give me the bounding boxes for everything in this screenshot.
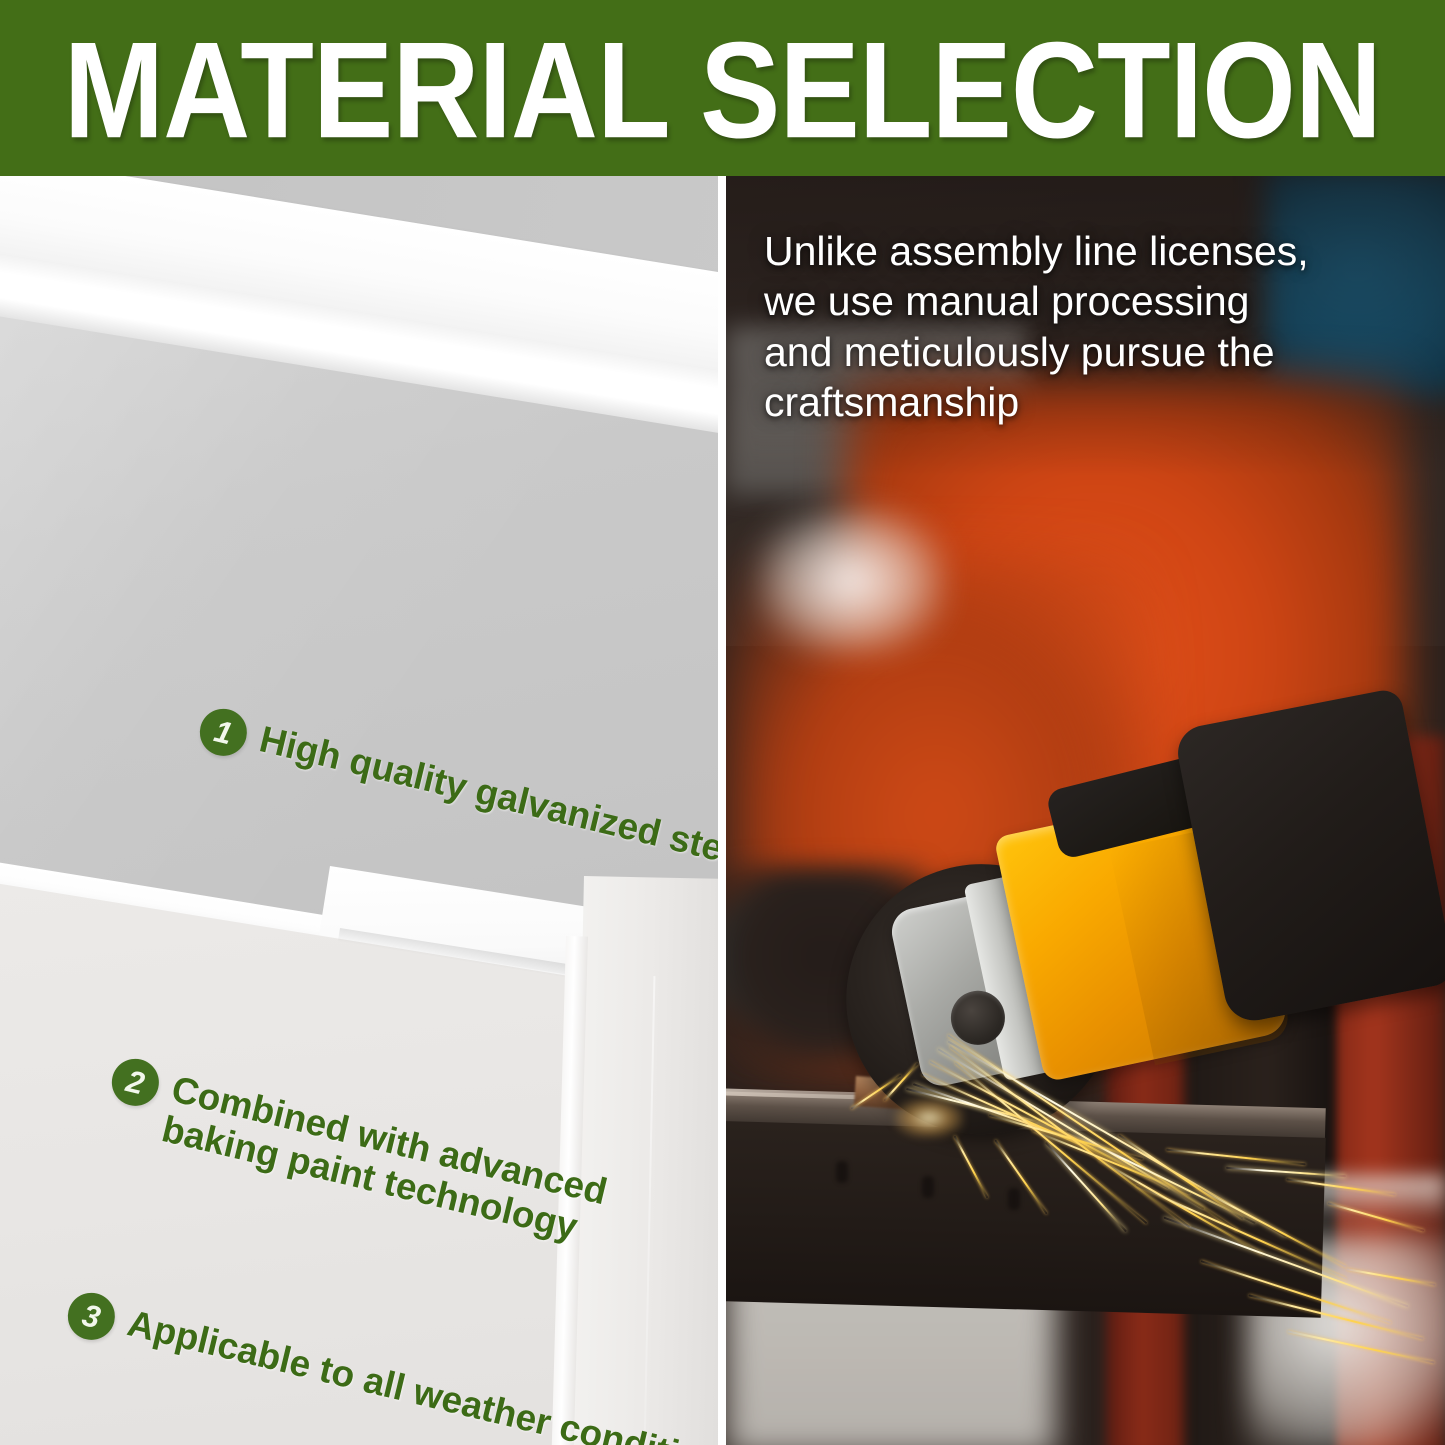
panel-divider <box>718 176 726 1445</box>
headline-line-1: Unlike assembly line licenses, <box>764 226 1324 276</box>
bench-hole-2 <box>922 1176 934 1198</box>
headline-line-3: and meticulously pursue the <box>764 327 1324 377</box>
angle-grinder <box>797 649 1416 1182</box>
cabinet-side-panel <box>568 876 718 1445</box>
feature-badge-2: 2 <box>107 1054 164 1111</box>
headline-line-2: we use manual processing <box>764 276 1324 326</box>
bench-hole-3 <box>1008 1188 1020 1210</box>
headline-line-4: craftsmanship <box>764 377 1324 427</box>
right-workshop-photo: Unlike assembly line licenses, we use ma… <box>726 176 1445 1445</box>
page-title: MATERIAL SELECTION <box>64 22 1381 159</box>
right-panel-headline: Unlike assembly line licenses, we use ma… <box>764 226 1324 428</box>
workshop-light-source <box>756 506 946 656</box>
header-banner: MATERIAL SELECTION <box>0 0 1445 176</box>
left-product-photo: 1 High quality galvanized steel 2 Combin… <box>0 176 718 1445</box>
bench-hole-1 <box>836 1161 848 1183</box>
infographic-page: MATERIAL SELECTION 1 High quality galvan… <box>0 0 1445 1445</box>
